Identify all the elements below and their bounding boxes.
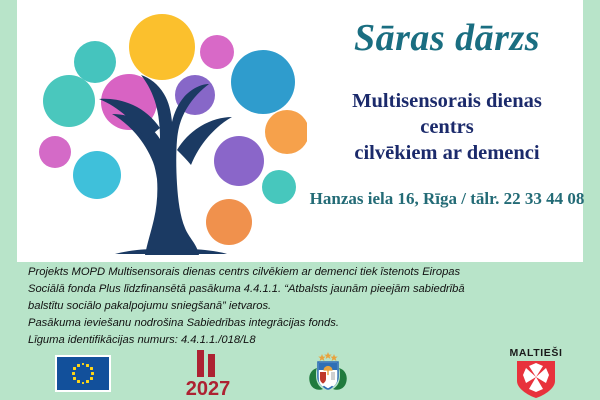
funding-line: Pasākuma ieviešanu nodrošina Sabiedrības…: [28, 315, 578, 332]
eu-2027-label: 2027: [186, 378, 231, 396]
eu-flag-star-icon: [73, 377, 76, 380]
eu-flag-star-icon: [73, 367, 76, 370]
contact-line: Hanzas iela 16, Rīga / tālr. 22 33 44 08: [302, 189, 592, 209]
eu-flag-star-icon: [77, 380, 80, 383]
funding-line: balstītu sociālo pakalpojumu sniegšanā” …: [28, 298, 578, 315]
page-subtitle: Multisensorais dienas centrs cilvēkiem a…: [302, 88, 592, 167]
eu-flag-star-icon: [77, 364, 80, 367]
eu-flag-star-icon: [86, 380, 89, 383]
logo-strip: 2027: [0, 344, 600, 400]
eu-flag-star-icon: [82, 382, 85, 385]
title-block: Sāras dārzs Multisensorais dienas centrs…: [302, 18, 592, 209]
subtitle-line-3: cilvēkiem ar demenci: [302, 140, 592, 166]
hero-card: Sāras dārzs Multisensorais dienas centrs…: [17, 0, 583, 262]
maltiesi-logo: MALTIEŠI: [508, 344, 564, 400]
funding-line: Sociālā fonda Plus līdzfinansētā pasākum…: [28, 281, 578, 298]
eu-flag-star-icon: [90, 367, 93, 370]
eu-flag-logo: [55, 355, 111, 392]
eu-flag-field: [57, 357, 109, 390]
eu-flag-star-icon: [82, 363, 85, 366]
latvia-coat-of-arms-logo: [305, 350, 351, 394]
eu-flag-star-icon: [86, 364, 89, 367]
maltiesi-label: MALTIEŠI: [509, 346, 562, 359]
eu-flag-star-icon: [91, 372, 94, 375]
eu-flag-star-icon: [90, 377, 93, 380]
funding-statement: Projekts MOPD Multisensorais dienas cent…: [28, 264, 578, 349]
page-title: Sāras dārzs: [302, 18, 592, 60]
eu-funds-2027-logo: 2027: [175, 348, 241, 396]
tree-logo: [17, 0, 307, 262]
eu-flag-star-icon: [72, 372, 75, 375]
subtitle-line-1: Multisensorais dienas: [302, 88, 592, 114]
funding-line: Projekts MOPD Multisensorais dienas cent…: [28, 264, 578, 281]
subtitle-line-2: centrs: [302, 114, 592, 140]
